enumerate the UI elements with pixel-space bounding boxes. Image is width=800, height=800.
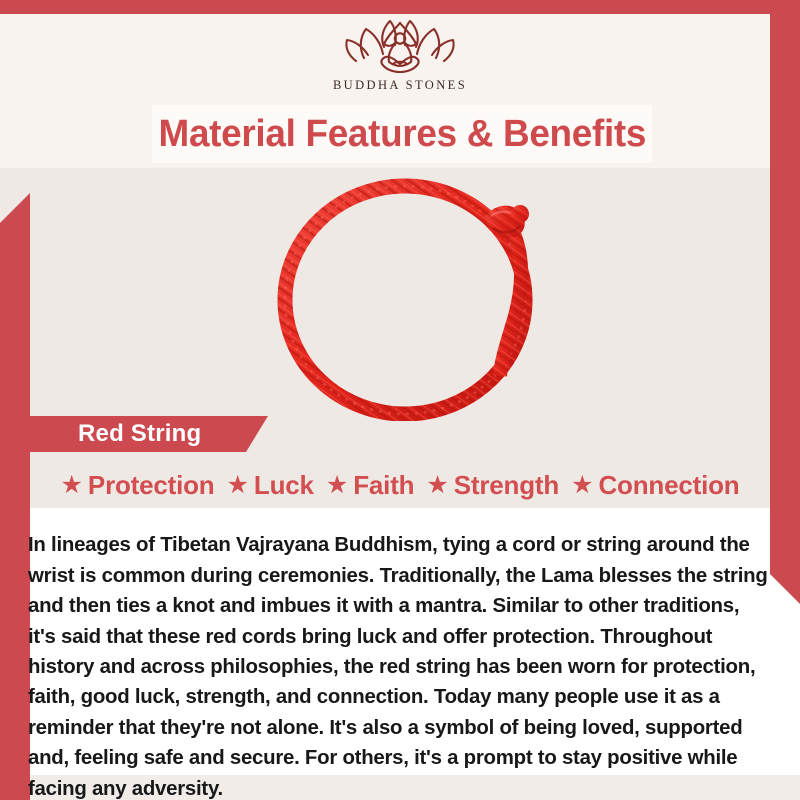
benefit-label: Strength	[454, 470, 559, 501]
benefit-item-connection: ★ Connection	[565, 470, 745, 501]
braided-red-cord-bracelet-icon	[253, 176, 573, 421]
benefit-label: Luck	[254, 470, 314, 501]
benefit-item-faith: ★ Faith	[320, 470, 421, 501]
material-ribbon: Red String	[30, 416, 268, 452]
benefit-item-protection: ★ Protection	[55, 470, 221, 501]
description-paragraph: In lineages of Tibetan Vajrayana Buddhis…	[28, 530, 772, 800]
lotus-meditation-figure-icon	[338, 14, 462, 76]
star-icon: ★	[227, 473, 249, 498]
title-banner: Material Features & Benefits	[152, 105, 652, 163]
benefit-item-strength: ★ Strength	[420, 470, 565, 501]
benefits-row: ★ Protection ★ Luck ★ Faith ★ Strength ★…	[0, 464, 800, 506]
benefit-label: Faith	[353, 470, 414, 501]
infographic-card: BUDDHA STONES Material Features & Benefi…	[0, 0, 800, 800]
brand-logo: BUDDHA STONES	[0, 14, 800, 106]
benefit-label: Connection	[598, 470, 739, 501]
star-icon: ★	[571, 473, 593, 498]
benefit-label: Protection	[88, 470, 215, 501]
product-image-area	[0, 168, 800, 423]
benefit-item-luck: ★ Luck	[221, 470, 320, 501]
star-icon: ★	[61, 473, 83, 498]
star-icon: ★	[326, 473, 348, 498]
star-icon: ★	[426, 473, 448, 498]
brand-name: BUDDHA STONES	[333, 78, 467, 93]
decorative-top-bar	[0, 0, 800, 14]
material-name: Red String	[30, 420, 201, 448]
page-title: Material Features & Benefits	[158, 113, 646, 156]
